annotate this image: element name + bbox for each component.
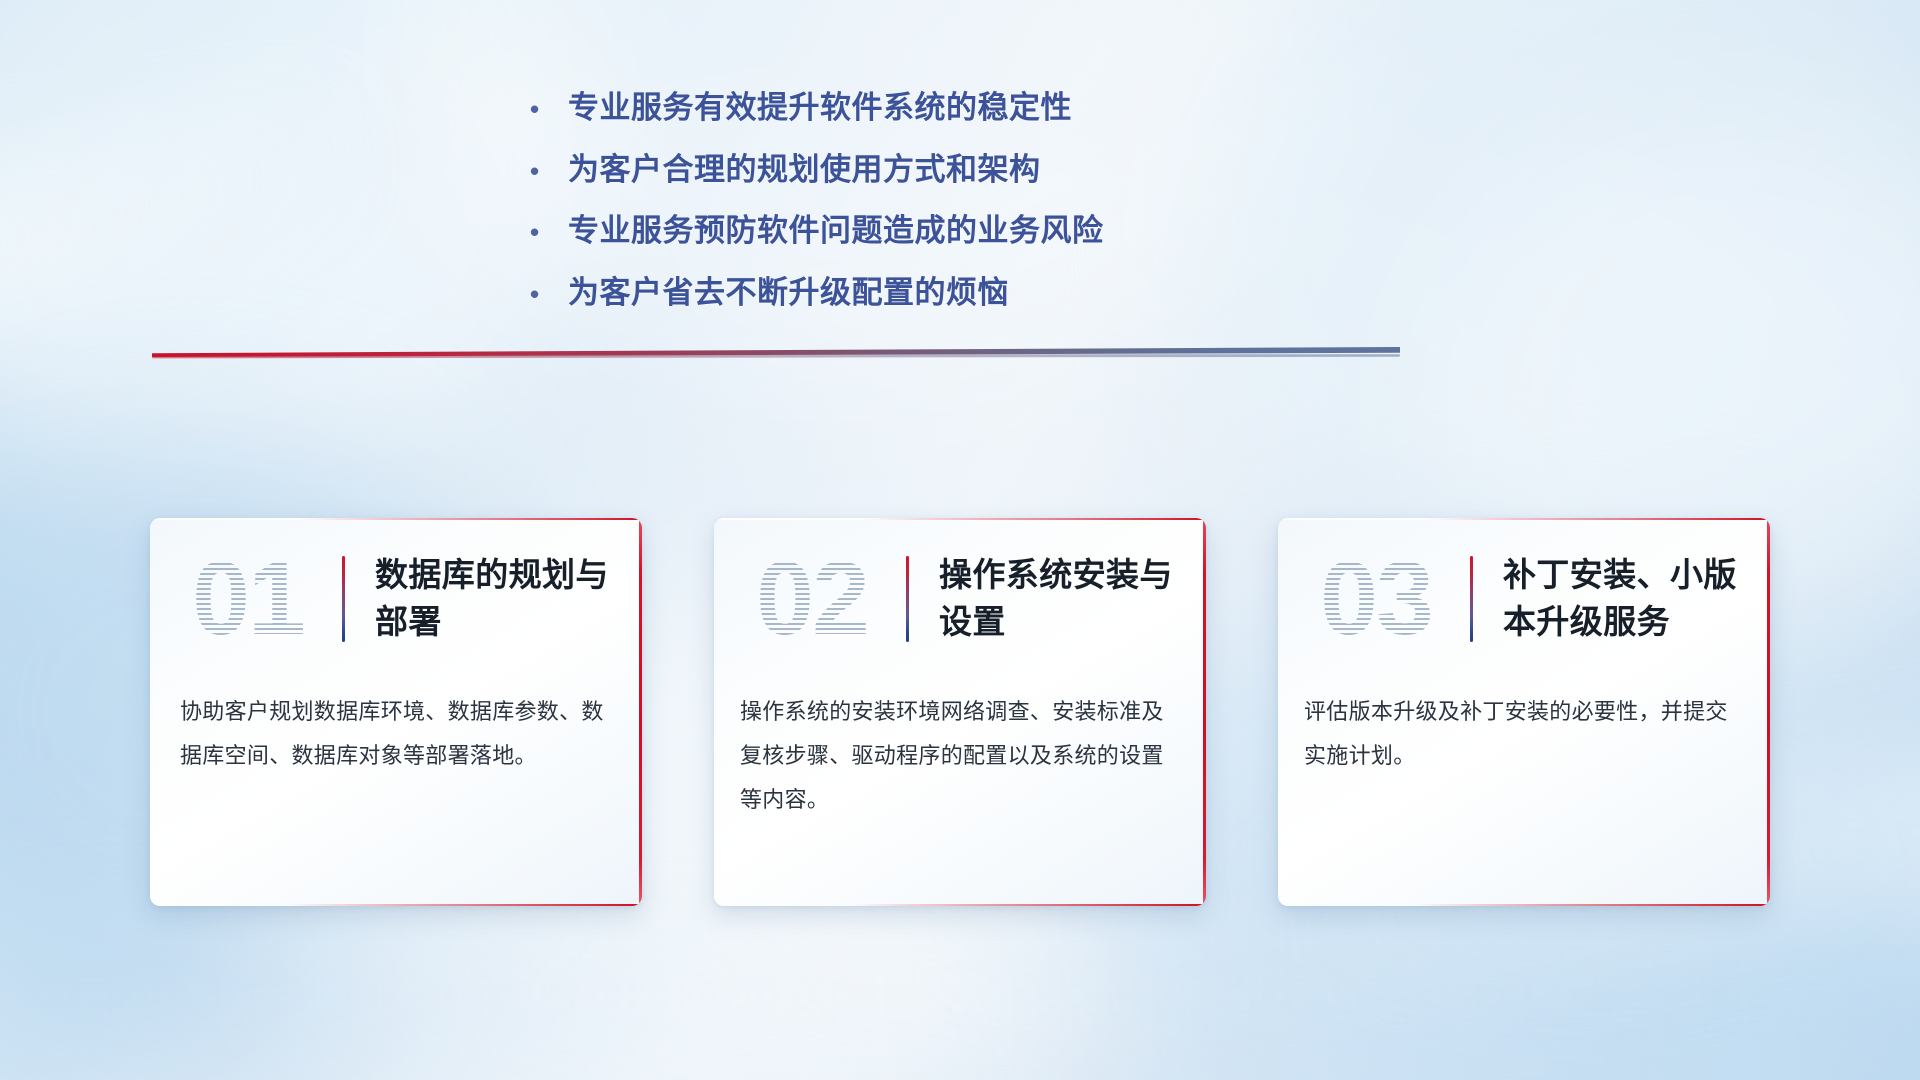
card-body-text: 评估版本升级及补丁安装的必要性，并提交实施计划。	[1278, 680, 1770, 778]
card-header: 03 补丁安装、小版本升级服务	[1278, 518, 1770, 680]
bullet-text: 为客户合理的规划使用方式和架构	[568, 150, 1430, 190]
card-accent-bottom	[852, 904, 1206, 906]
service-card-01[interactable]: 01 数据库的规划与部署 协助客户规划数据库环境、数据库参数、数据库空间、数据库…	[150, 518, 642, 906]
card-divider-bar	[906, 556, 909, 642]
card-number-watermark: 01	[178, 543, 318, 655]
bullet-dot-icon: •	[530, 96, 568, 122]
card-accent-bottom	[288, 904, 642, 906]
service-card-03[interactable]: 03 补丁安装、小版本升级服务 评估版本升级及补丁安装的必要性，并提交实施计划。	[1278, 518, 1770, 906]
card-divider-bar	[342, 556, 345, 642]
card-body-text: 操作系统的安装环境网络调查、安装标准及复核步骤、驱动程序的配置以及系统的设置等内…	[714, 680, 1206, 822]
divider-line-shadow	[152, 354, 1400, 361]
card-header: 02 操作系统安装与设置	[714, 518, 1206, 680]
service-cards-row: 01 数据库的规划与部署 协助客户规划数据库环境、数据库参数、数据库空间、数据库…	[150, 518, 1770, 918]
bullet-dot-icon: •	[530, 158, 568, 184]
bullet-dot-icon: •	[530, 281, 568, 307]
bullet-dot-icon: •	[530, 219, 568, 245]
card-title: 操作系统安装与设置	[939, 552, 1206, 646]
card-header: 01 数据库的规划与部署	[150, 518, 642, 680]
bullet-text: 专业服务有效提升软件系统的稳定性	[568, 88, 1430, 128]
bullet-text: 为客户省去不断升级配置的烦恼	[568, 273, 1430, 313]
card-title: 补丁安装、小版本升级服务	[1503, 552, 1770, 646]
bullet-text: 专业服务预防软件问题造成的业务风险	[568, 211, 1430, 251]
card-body-text: 协助客户规划数据库环境、数据库参数、数据库空间、数据库对象等部署落地。	[150, 680, 642, 778]
list-item: • 为客户合理的规划使用方式和架构	[530, 150, 1430, 190]
card-title: 数据库的规划与部署	[375, 552, 642, 646]
list-item: • 为客户省去不断升级配置的烦恼	[530, 273, 1430, 313]
card-divider-bar	[1470, 556, 1473, 642]
card-accent-bottom	[1416, 904, 1770, 906]
list-item: • 专业服务有效提升软件系统的稳定性	[530, 88, 1430, 128]
service-card-02[interactable]: 02 操作系统安装与设置 操作系统的安装环境网络调查、安装标准及复核步骤、驱动程…	[714, 518, 1206, 906]
section-divider	[152, 347, 1400, 363]
benefits-bullet-list: • 专业服务有效提升软件系统的稳定性 • 为客户合理的规划使用方式和架构 • 专…	[530, 88, 1430, 335]
card-number-watermark: 02	[742, 543, 882, 655]
card-number-watermark: 03	[1306, 543, 1446, 655]
list-item: • 专业服务预防软件问题造成的业务风险	[530, 211, 1430, 251]
